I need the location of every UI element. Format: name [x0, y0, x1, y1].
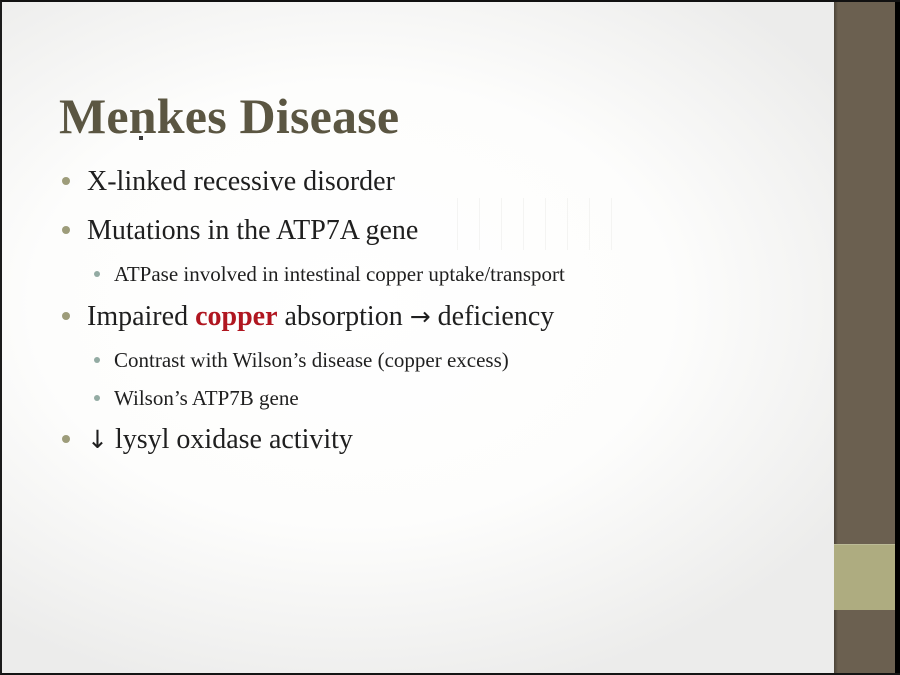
page-title: Menkes Disease: [59, 90, 399, 143]
list-item: ATPase involved in intestinal copper upt…: [2, 259, 792, 291]
list-item: Contrast with Wilson’s disease (copper e…: [2, 345, 792, 377]
bullet-dot-icon: [94, 395, 100, 401]
bullet-list: X-linked recessive disorder Mutations in…: [2, 162, 792, 469]
slide-right-edge: [895, 2, 900, 673]
list-item-label: Contrast with Wilson’s disease (copper e…: [114, 345, 509, 377]
slide-side-accent-block: [834, 544, 895, 610]
list-item: ↓ lysyl oxidase activity: [2, 420, 792, 461]
list-item-label: ↓ lysyl oxidase activity: [87, 420, 353, 461]
text-segment: Impaired: [87, 301, 195, 332]
list-item: Mutations in the ATP7A gene: [2, 211, 792, 252]
list-item: Impaired copper absorption → deficiency: [2, 297, 792, 338]
bullet-dot-icon: [62, 226, 70, 234]
text-segment: absorption: [278, 301, 410, 332]
bullet-dot-icon: [94, 271, 100, 277]
text-segment: lysyl oxidase activity: [108, 424, 353, 455]
stray-dot-artifact: [139, 136, 143, 140]
down-arrow-icon: ↓: [87, 425, 108, 454]
right-arrow-icon: →: [410, 302, 431, 331]
bullet-dot-icon: [62, 435, 70, 443]
list-item: X-linked recessive disorder: [2, 162, 792, 203]
list-item-label: Wilson’s ATP7B gene: [114, 383, 299, 415]
list-item-label: ATPase involved in intestinal copper upt…: [114, 259, 565, 291]
highlighted-term-copper: copper: [195, 301, 277, 332]
list-item-label: X-linked recessive disorder: [87, 162, 395, 203]
list-item-label: Mutations in the ATP7A gene: [87, 211, 418, 252]
list-item: Wilson’s ATP7B gene: [2, 383, 792, 415]
bullet-dot-icon: [62, 177, 70, 185]
list-item-label: Impaired copper absorption → deficiency: [87, 297, 554, 338]
bullet-dot-icon: [62, 312, 70, 320]
bullet-dot-icon: [94, 357, 100, 363]
presentation-slide: Menkes Disease X-linked recessive disord…: [0, 0, 900, 675]
text-segment: deficiency: [431, 301, 555, 332]
